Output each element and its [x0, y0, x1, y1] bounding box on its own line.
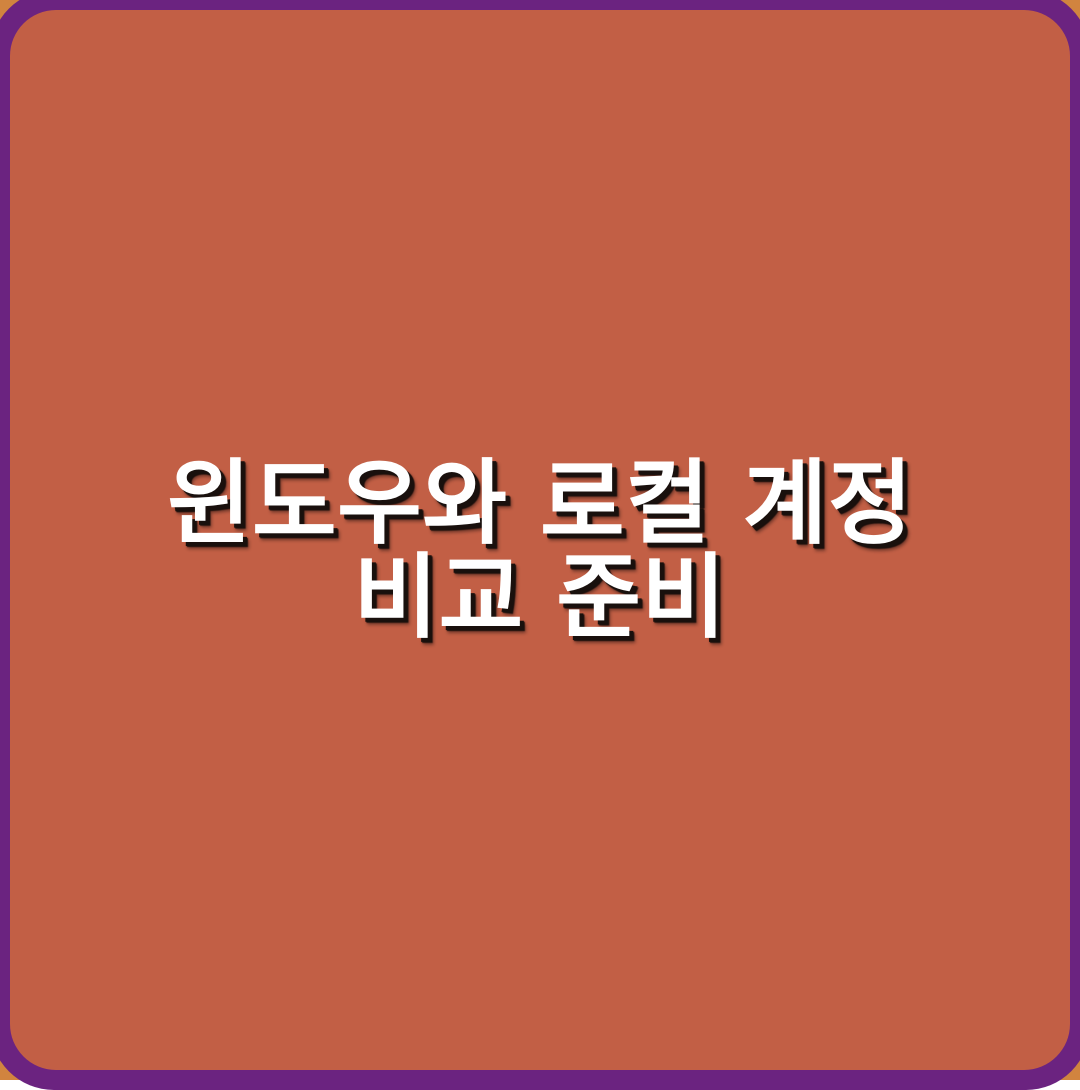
- card-panel: 윈도우와 로컬 계정 비교 준비: [10, 10, 1070, 1070]
- card-canvas: 윈도우와 로컬 계정 비교 준비: [0, 0, 1080, 1080]
- card-frame-border: 윈도우와 로컬 계정 비교 준비: [0, 0, 1080, 1090]
- title-line-1: 윈도우와 로컬 계정: [70, 457, 1010, 551]
- page-title: 윈도우와 로컬 계정 비교 준비: [10, 457, 1070, 645]
- title-line-2: 비교 준비: [70, 551, 1010, 645]
